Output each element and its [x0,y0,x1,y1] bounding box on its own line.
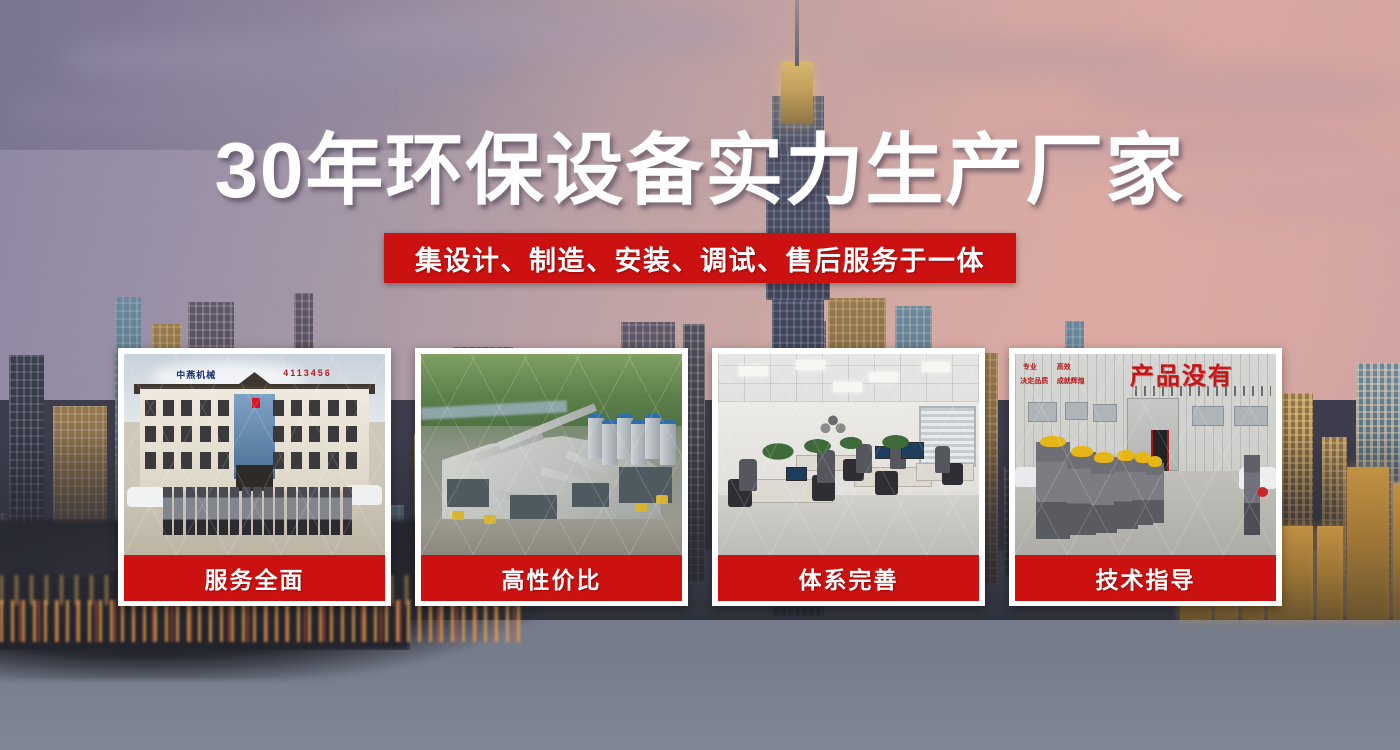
building-window [309,426,320,442]
building-window [181,400,192,416]
central-tower-crown [781,62,813,124]
cloud [1080,70,1400,116]
staff-person [253,487,262,535]
ceiling-light [833,382,862,392]
building-window [309,400,320,416]
feature-card[interactable]: 体系完善 [712,348,985,606]
central-tower-spire [795,0,799,66]
building-window [218,426,229,442]
plant-shed [572,483,609,507]
card-caption: 体系完善 [718,555,979,601]
golden-building [1393,483,1400,620]
building-window [181,426,192,442]
computer-monitor [786,467,807,481]
aerial-industrial-plant-photo [421,354,682,555]
building-window [273,452,284,468]
factory-wall-slogan-small: 决定品质 [1020,376,1048,386]
staff-person [298,487,307,535]
staff-person [309,487,318,535]
building-window [346,400,357,416]
staff-person [230,487,239,535]
office-plant [838,436,864,450]
plant-shed [510,495,557,519]
staff-person [343,487,352,535]
page-title: 30年环保设备实力生产厂家 [0,131,1400,209]
staff-person [287,487,296,535]
staff-person [320,487,329,535]
cloud [330,8,750,56]
building-window [181,452,192,468]
office-chair [875,471,898,495]
card-caption: 技术指导 [1015,555,1276,601]
office-plant [802,438,833,454]
office-plant [760,442,797,460]
yellow-hard-hat [1094,452,1114,463]
company-office-building-photo: 中燕机械 4113456 [124,354,385,555]
ceiling-light [739,366,768,376]
staff-person [208,487,217,535]
feature-card[interactable]: 产品没有 专业 高效 决定品质 成就辉煌 技术指导 [1009,348,1282,606]
staff-person [275,487,284,535]
factory-window [1065,402,1088,420]
staff-person [163,487,172,535]
factory-wall-slogan-small: 专业 [1023,362,1037,372]
yellow-excavator [452,511,464,520]
cement-silo [660,420,676,464]
factory-wall-slogan-small: 高效 [1057,362,1071,372]
golden-building [1317,526,1343,620]
building-window [291,426,302,442]
staff-person [264,487,273,535]
factory-window [1234,406,1268,426]
building-phone-number: 4113456 [283,368,332,378]
office-worker [935,446,951,472]
building-window [346,426,357,442]
factory-wall-slogan-small: 成就辉煌 [1057,376,1085,386]
yellow-hard-hat [1040,436,1066,447]
building-window [145,400,156,416]
office-interior-staff-photo [718,354,979,555]
building-window [291,452,302,468]
feature-card-row: 中燕机械 4113456 服务全面 高性价比 [118,348,1282,606]
building-window [328,452,339,468]
building-window [200,400,211,416]
building-window [273,400,284,416]
subtitle-banner: 集设计、制造、安装、调试、售后服务于一体 [384,233,1016,283]
building-window [200,452,211,468]
building-window [309,452,320,468]
yellow-hard-hat [1148,456,1162,467]
office-worker [739,459,757,491]
building-window [163,452,174,468]
building-window [145,452,156,468]
shore-lights [0,600,520,642]
card-caption: 服务全面 [124,555,385,601]
staff-person [219,487,228,535]
ceiling-light [869,372,898,382]
cloud [860,38,1190,78]
building-window [273,426,284,442]
yellow-excavator [656,495,668,504]
yellow-excavator [635,503,647,512]
subtitle-text: 集设计、制造、安装、调试、售后服务于一体 [415,239,985,278]
staff-person [186,487,195,535]
yellow-hard-hat [1071,446,1093,457]
building-window [346,452,357,468]
building-window [163,400,174,416]
cloud [0,95,380,129]
factory-worker [1146,463,1164,523]
ceiling-light [796,360,825,370]
cement-silo [602,420,618,464]
plant-shed [447,479,489,507]
factory-workers-training-photo: 产品没有 专业 高效 决定品质 成就辉煌 [1015,354,1276,555]
factory-window [1093,404,1116,422]
factory-worker [1091,459,1117,533]
office-worker [817,450,835,482]
staff-person [197,487,206,535]
building-window [218,452,229,468]
building-window [200,426,211,442]
factory-worker [1036,442,1070,538]
staff-person [331,487,340,535]
feature-card[interactable]: 中燕机械 4113456 服务全面 [118,348,391,606]
card-caption: 高性价比 [421,555,682,601]
golden-building [1347,467,1389,620]
building-window [163,426,174,442]
building-window [328,426,339,442]
factory-window [1028,402,1057,422]
building-window [218,400,229,416]
building-window [145,426,156,442]
building-window [291,400,302,416]
staff-person [242,487,251,535]
ceiling-light [922,362,951,372]
building-window [328,400,339,416]
feature-card[interactable]: 高性价比 [415,348,688,606]
staff-person [174,487,183,535]
building-sign-text: 中燕机械 [176,368,216,381]
factory-window [1192,406,1223,426]
yellow-excavator [484,515,496,524]
office-plant [880,434,911,450]
